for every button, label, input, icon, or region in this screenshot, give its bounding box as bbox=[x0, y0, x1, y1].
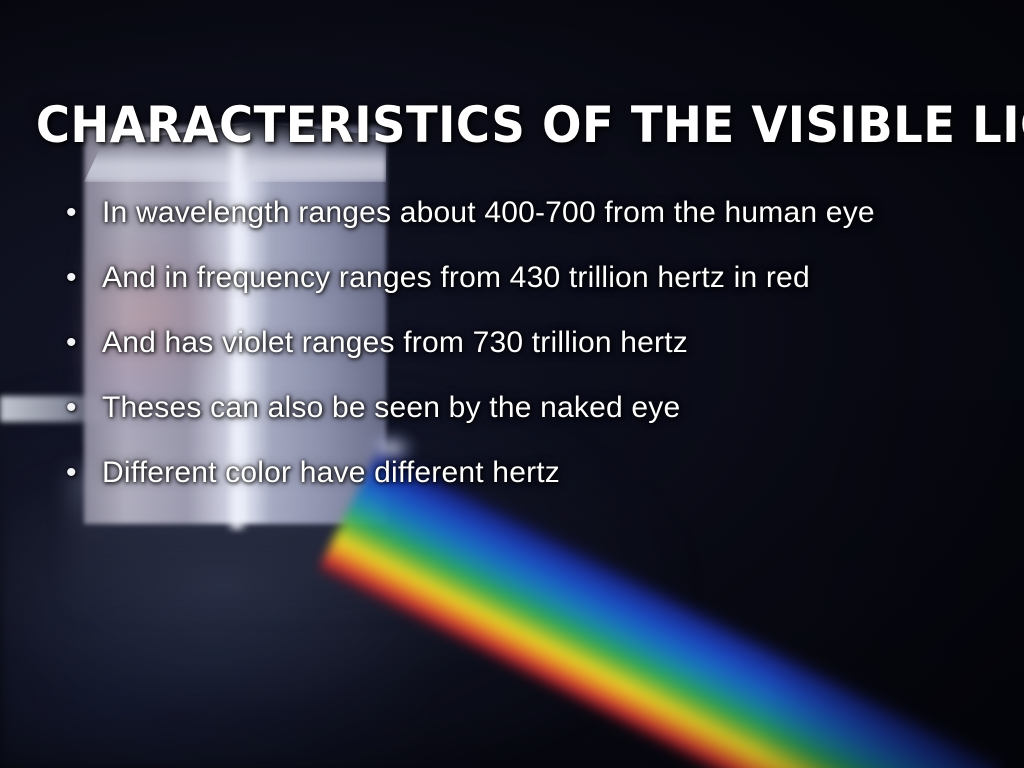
presentation-slide: CHARACTERISTICS OF THE VISIBLE LIGHT • I… bbox=[0, 0, 1024, 768]
bullet-text-4: Theses can also be seen by the naked eye bbox=[102, 391, 680, 425]
bullet-text-3: And has violet ranges from 730 trillion … bbox=[102, 326, 688, 360]
bullet-point-icon: • bbox=[56, 458, 102, 488]
bullet-item-2: • And in frequency ranges from 430 trill… bbox=[56, 261, 1006, 326]
bullet-item-3: • And has violet ranges from 730 trillio… bbox=[56, 326, 1006, 391]
bullet-text-5: Different color have different hertz bbox=[102, 456, 560, 490]
bullet-item-1: • In wavelength ranges about 400-700 fro… bbox=[56, 196, 1006, 261]
bullet-list: • In wavelength ranges about 400-700 fro… bbox=[56, 196, 1006, 521]
bullet-point-icon: • bbox=[56, 328, 102, 358]
bullet-point-icon: • bbox=[56, 393, 102, 423]
slide-content: CHARACTERISTICS OF THE VISIBLE LIGHT • I… bbox=[0, 0, 1024, 768]
bullet-point-icon: • bbox=[56, 198, 102, 228]
bullet-point-icon: • bbox=[56, 263, 102, 293]
bullet-item-5: • Different color have different hertz bbox=[56, 456, 1006, 521]
bullet-text-2: And in frequency ranges from 430 trillio… bbox=[102, 261, 810, 295]
slide-title: CHARACTERISTICS OF THE VISIBLE LIGHT bbox=[36, 96, 988, 154]
bullet-item-4: • Theses can also be seen by the naked e… bbox=[56, 391, 1006, 456]
bullet-text-1: In wavelength ranges about 400-700 from … bbox=[102, 196, 875, 230]
